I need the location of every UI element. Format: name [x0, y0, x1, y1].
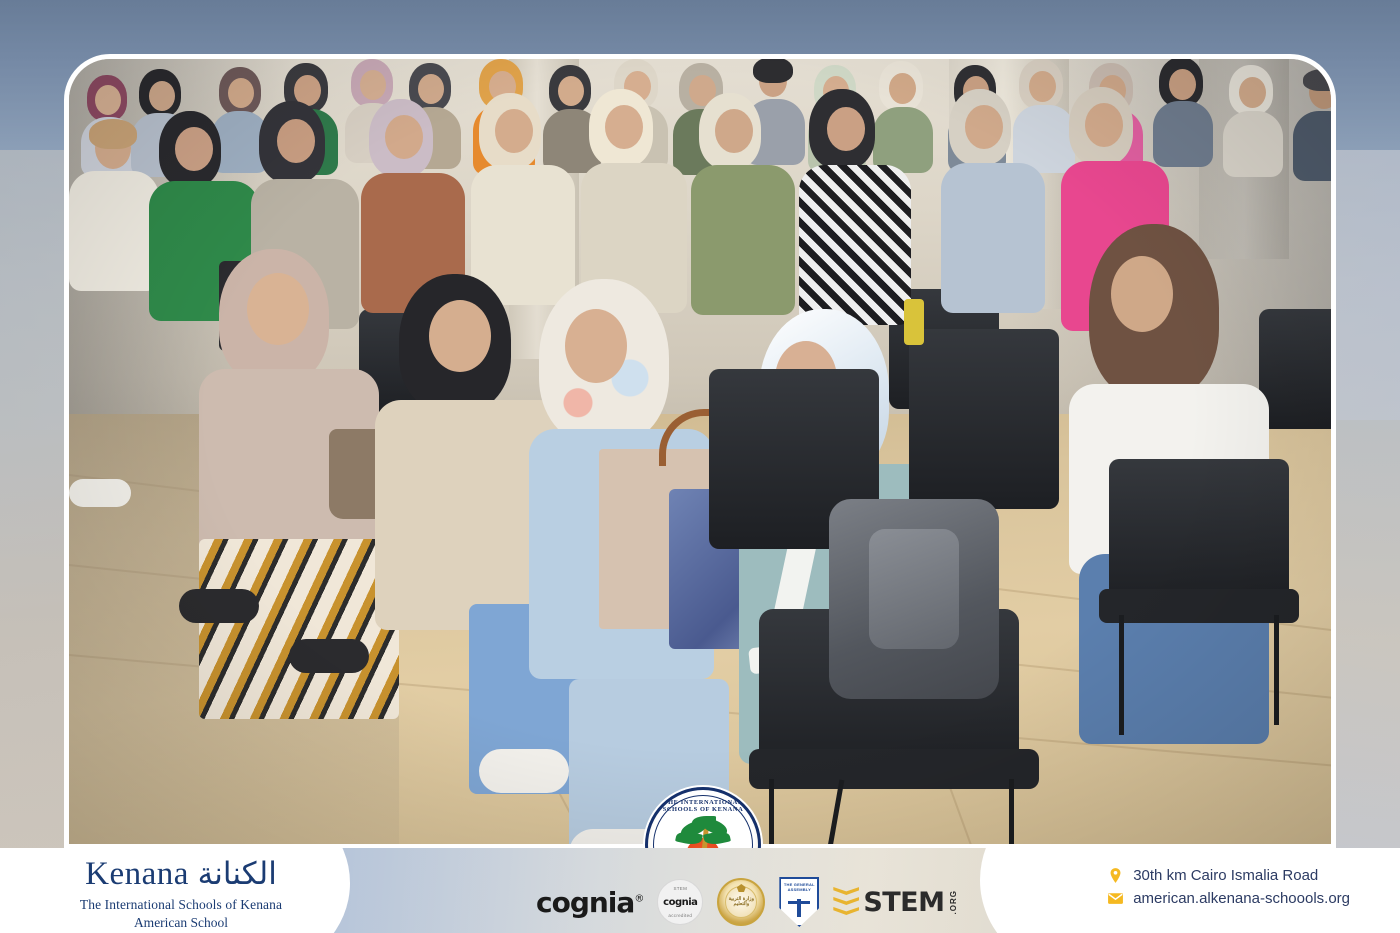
brand-subtitle-1: The International Schools of Kenana — [56, 897, 306, 913]
egypt-ministry-seal-icon: وزارة التربية والتعليم — [717, 878, 765, 926]
brand-subtitle-2: American School — [56, 915, 306, 931]
brand-name-ar: الكنانة — [198, 856, 277, 891]
stem-org-logo: STEM .ORG — [833, 887, 957, 918]
photo-frame — [64, 54, 1336, 849]
contact-website-row[interactable]: american.alkenana-schoools.org — [1107, 887, 1350, 910]
cognia-accredited-badge-icon: STEM cognia accredited — [657, 879, 703, 925]
location-pin-icon — [1107, 867, 1124, 884]
contact-info: 30th km Cairo Ismalia Road american.alke… — [1107, 864, 1350, 911]
contact-address-text: 30th km Cairo Ismalia Road — [1133, 864, 1318, 887]
footer-bar: Kenana الكنانة The International Schools… — [0, 848, 1400, 933]
chair — [1109, 459, 1289, 609]
accreditation-logos: cognia® STEM cognia accredited وزارة الت… — [536, 877, 958, 927]
photo-card: THE INTERNATIONAL SCHOOLS OF KENANA ESTA… — [0, 0, 1400, 933]
email-envelope-icon — [1107, 890, 1124, 907]
event-photo — [69, 59, 1331, 844]
chair-seat — [1099, 589, 1299, 623]
contact-address-row: 30th km Cairo Ismalia Road — [1107, 864, 1350, 887]
chair — [909, 329, 1059, 509]
brand-name-row: Kenana الكنانة — [56, 858, 306, 891]
stem-chevron-icon — [833, 887, 859, 917]
chair-seat — [749, 749, 1039, 789]
seal-arc-top-text: THE INTERNATIONAL SCHOOLS OF KENANA — [648, 799, 758, 813]
contact-website-text[interactable]: american.alkenana-schoools.org — [1133, 887, 1350, 910]
pennsylvania-shield-icon: THE GENERAL ASSEMBLY — [779, 877, 819, 927]
school-logo: Kenana الكنانة The International Schools… — [56, 858, 306, 931]
brand-name-en: Kenana — [85, 856, 189, 892]
cognia-wordmark-logo: cognia® — [536, 886, 643, 919]
